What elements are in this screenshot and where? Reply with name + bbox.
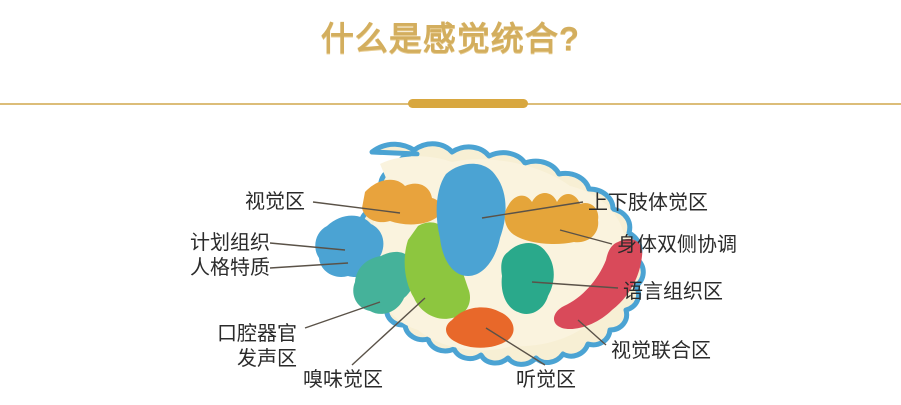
label-visual-association: 视觉联合区 xyxy=(611,339,711,364)
label-vocal-text: 发声区 xyxy=(217,347,297,372)
label-limb-sense-text: 上下肢体觉区 xyxy=(588,191,708,216)
label-hearing-text: 听觉区 xyxy=(516,368,576,393)
brain-illustration xyxy=(0,130,901,405)
page-title: 什么是感觉统合? xyxy=(0,12,901,60)
label-hearing: 听觉区 xyxy=(516,368,576,393)
leader-line-oral xyxy=(305,302,380,328)
brain-sensory-integration-diagram: 视觉区 计划组织 人格特质 口腔器官 发声区 嗅味觉区 听觉区 上下肢体觉区 身… xyxy=(0,130,901,405)
label-visual-area: 视觉区 xyxy=(245,190,305,215)
label-oral-vocal: 口腔器官 发声区 xyxy=(217,322,297,372)
divider-center-bar xyxy=(408,99,528,108)
label-language-area: 语言组织区 xyxy=(623,280,723,305)
label-smell-taste: 嗅味觉区 xyxy=(303,368,383,393)
title-divider xyxy=(0,96,901,112)
label-bilateral-coord-text: 身体双侧协调 xyxy=(617,233,737,258)
label-smell-taste-text: 嗅味觉区 xyxy=(303,368,383,393)
label-visual-association-text: 视觉联合区 xyxy=(611,339,711,364)
label-planning-text: 计划组织 xyxy=(190,231,270,256)
label-planning-personality: 计划组织 人格特质 xyxy=(190,231,270,281)
label-bilateral-coord: 身体双侧协调 xyxy=(617,233,737,258)
label-personality-text: 人格特质 xyxy=(190,256,270,281)
label-language-area-text: 语言组织区 xyxy=(623,280,723,305)
label-limb-sense: 上下肢体觉区 xyxy=(588,191,708,216)
label-visual-area-text: 视觉区 xyxy=(245,190,305,215)
label-oral-text: 口腔器官 xyxy=(217,322,297,347)
